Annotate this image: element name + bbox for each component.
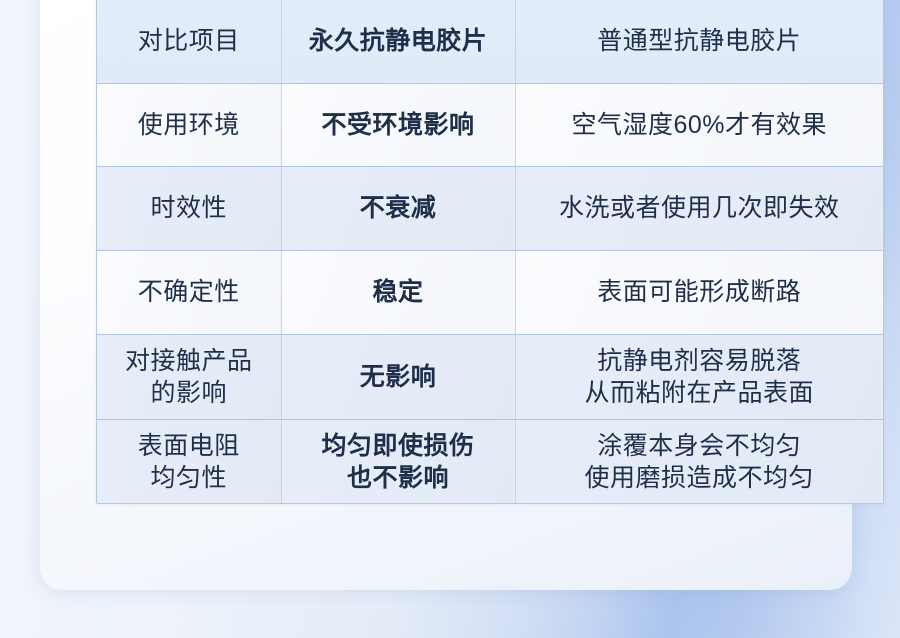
table-row: 表面电阻 均匀性 均匀即使损伤 也不影响 涂覆本身会不均匀 使用磨损造成不均匀 (97, 419, 883, 504)
row-label-uncertainty: 不确定性 (97, 250, 281, 334)
row-label-surface-resistance-uniformity: 表面电阻 均匀性 (97, 419, 281, 504)
row-permanent-usage-environment: 不受环境影响 (281, 83, 515, 166)
row-permanent-contact-product-effect: 无影响 (281, 334, 515, 419)
row-ordinary-surface-resistance-uniformity: 涂覆本身会不均匀 使用磨损造成不均匀 (515, 419, 883, 504)
comparison-table: 对比项目 永久抗静电胶片 普通型抗静电胶片 使用环境 不受环境影响 空气湿度60… (97, 0, 883, 504)
row-permanent-uncertainty: 稳定 (281, 250, 515, 334)
content-card: 对比项目 永久抗静电胶片 普通型抗静电胶片 使用环境 不受环境影响 空气湿度60… (40, 0, 852, 590)
table-row: 不确定性 稳定 表面可能形成断路 (97, 250, 883, 334)
row-ordinary-usage-environment: 空气湿度60%才有效果 (515, 83, 883, 166)
row-permanent-durability: 不衰减 (281, 166, 515, 250)
header-cell-ordinary: 普通型抗静电胶片 (515, 0, 883, 83)
row-ordinary-contact-product-effect: 抗静电剂容易脱落 从而粘附在产品表面 (515, 334, 883, 419)
row-label-contact-product-effect: 对接触产品 的影响 (97, 334, 281, 419)
row-ordinary-durability: 水洗或者使用几次即失效 (515, 166, 883, 250)
table-row: 使用环境 不受环境影响 空气湿度60%才有效果 (97, 83, 883, 166)
row-permanent-surface-resistance-uniformity: 均匀即使损伤 也不影响 (281, 419, 515, 504)
header-cell-criteria: 对比项目 (97, 0, 281, 83)
row-label-usage-environment: 使用环境 (97, 83, 281, 166)
table-row: 对接触产品 的影响 无影响 抗静电剂容易脱落 从而粘附在产品表面 (97, 334, 883, 419)
table-header-row: 对比项目 永久抗静电胶片 普通型抗静电胶片 (97, 0, 883, 83)
table-row: 时效性 不衰减 水洗或者使用几次即失效 (97, 166, 883, 250)
row-ordinary-uncertainty: 表面可能形成断路 (515, 250, 883, 334)
header-cell-permanent: 永久抗静电胶片 (281, 0, 515, 83)
row-label-durability: 时效性 (97, 166, 281, 250)
comparison-table-container: 对比项目 永久抗静电胶片 普通型抗静电胶片 使用环境 不受环境影响 空气湿度60… (96, 0, 884, 504)
